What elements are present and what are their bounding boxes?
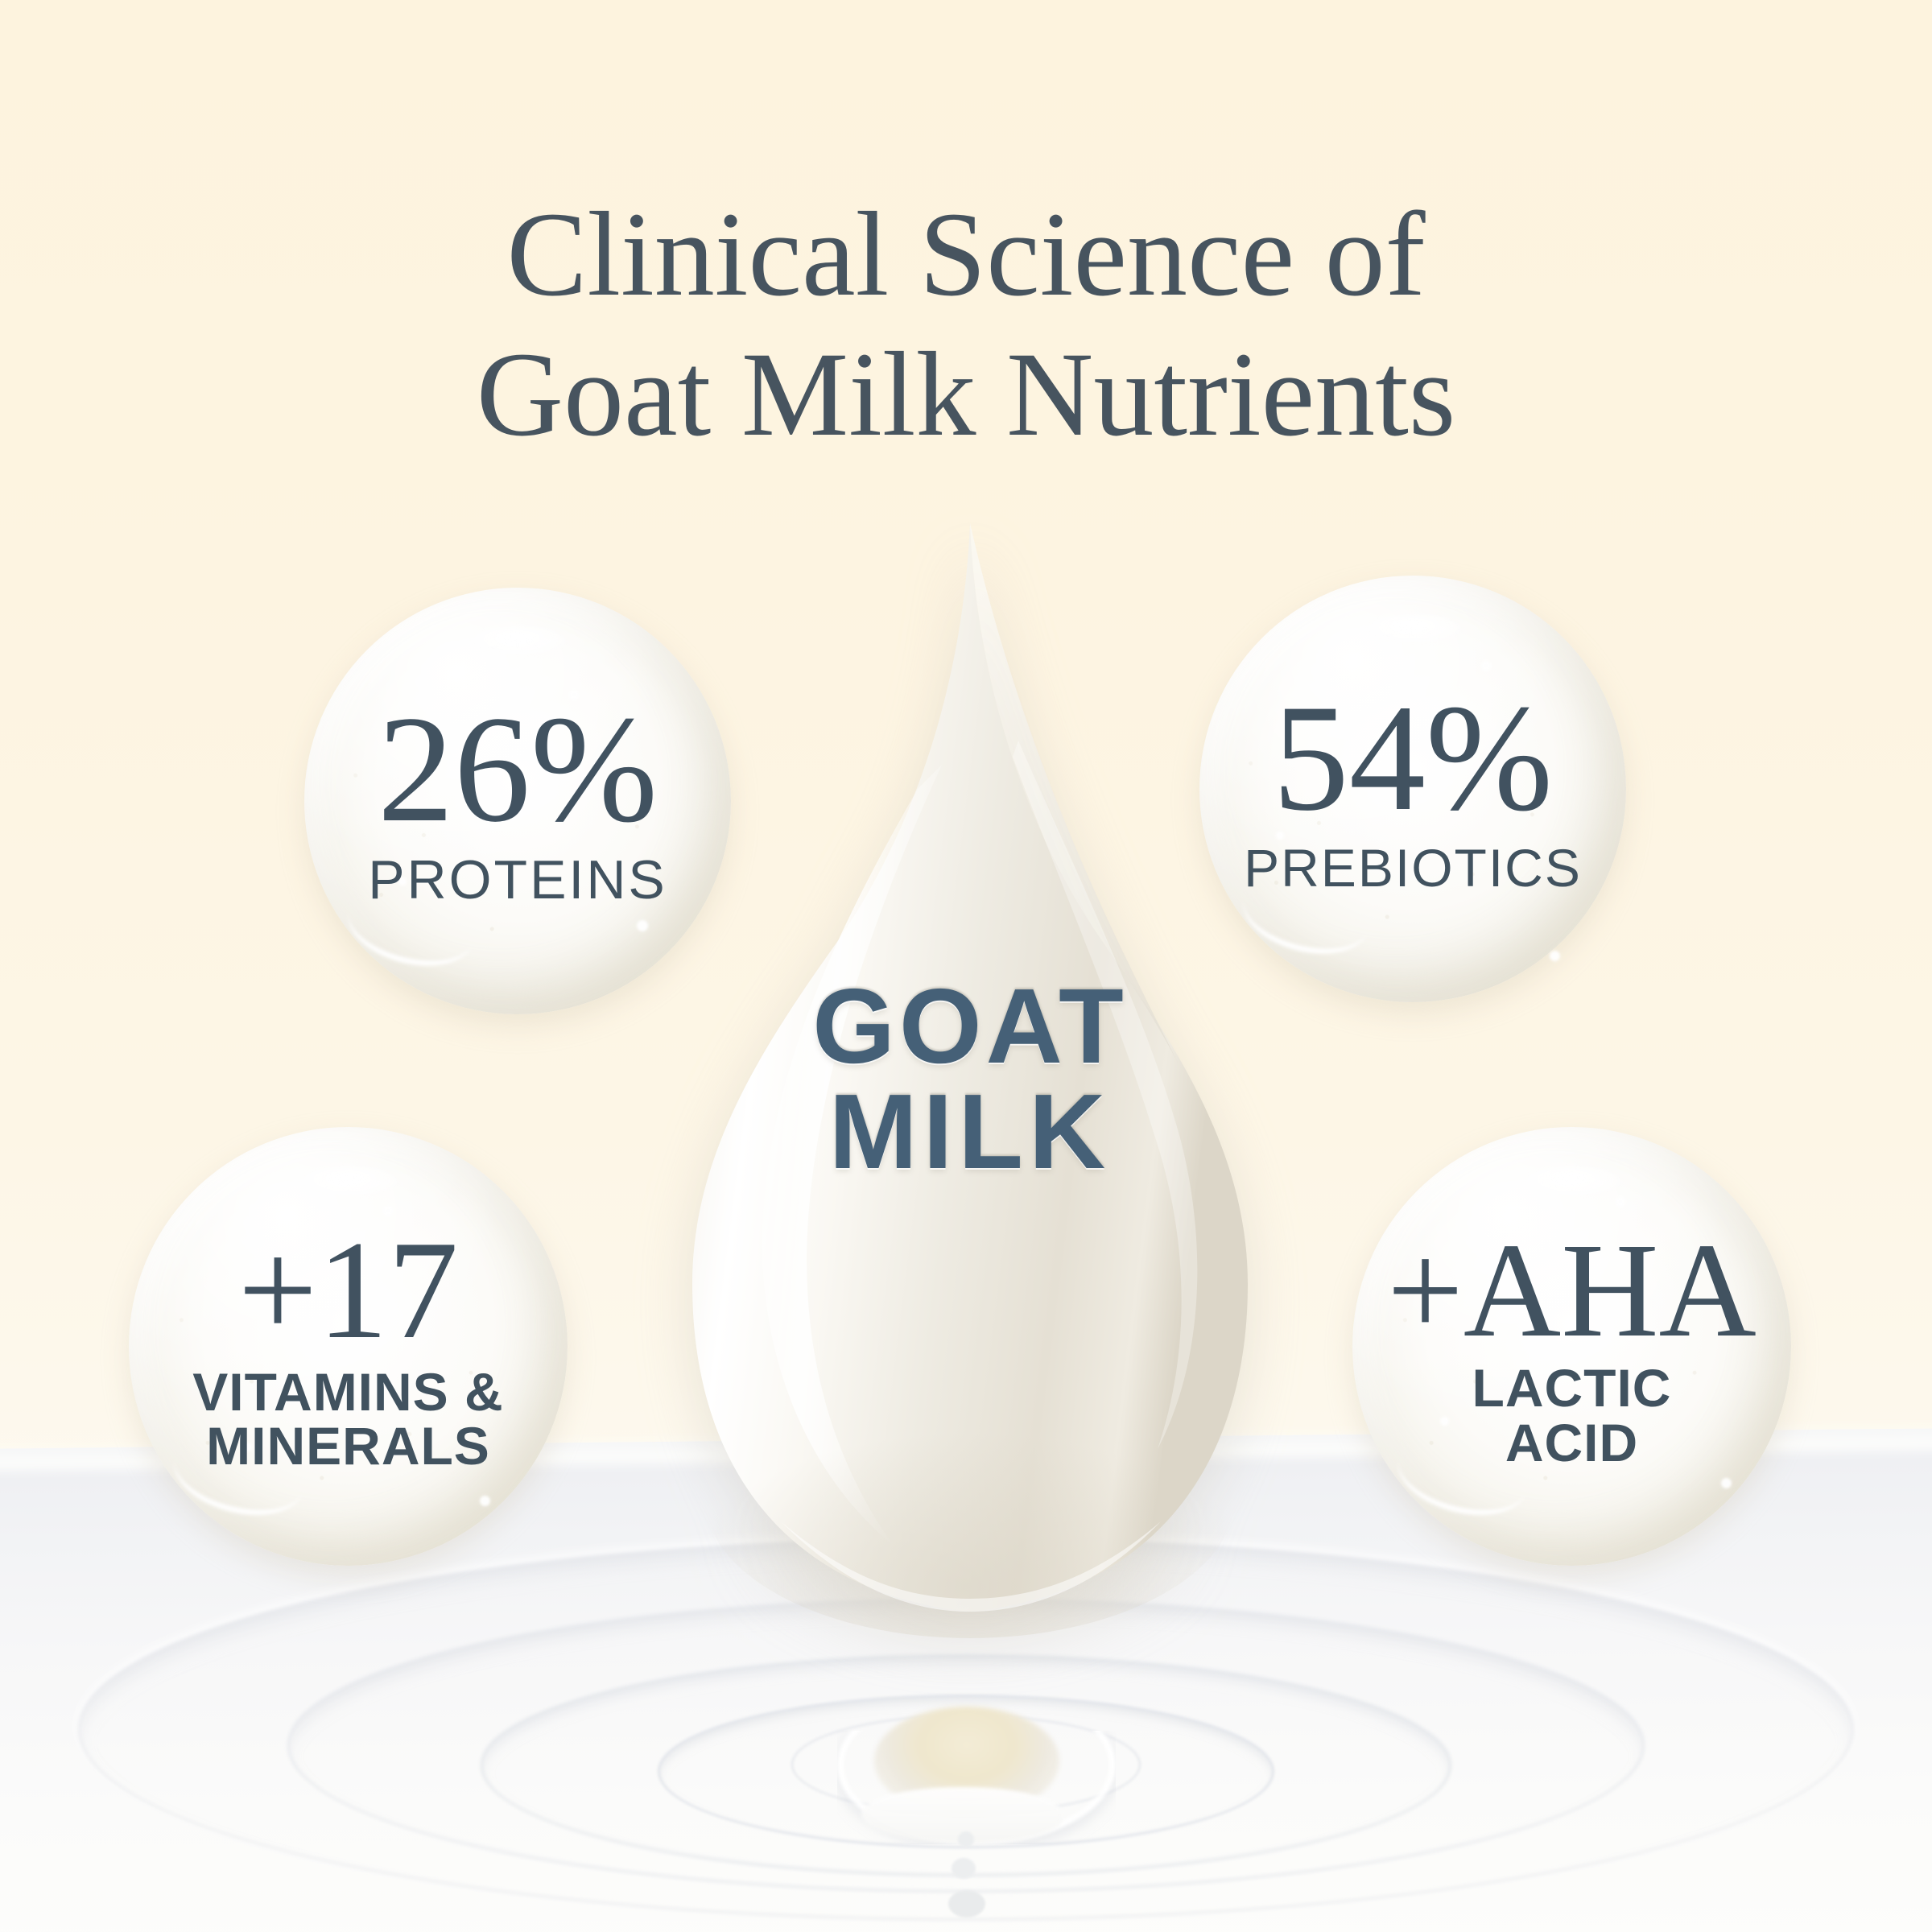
page-title: Clinical Science of Goat Milk Nutrients xyxy=(0,184,1932,464)
page-title-line-1: Clinical Science of xyxy=(506,188,1425,321)
nutrient-bubble-proteins: 26% PROTEINS xyxy=(304,588,731,1014)
bubble-speck-icon xyxy=(1550,951,1560,961)
nutrient-bubble-vitamins-minerals: +17 VITAMINS & MINERALS xyxy=(129,1127,568,1566)
goat-milk-nutrients-poster: Clinical Science of Goat Milk Nutrients xyxy=(0,0,1932,1932)
nutrient-label-prebiotics: PREBIOTICS xyxy=(1244,841,1582,895)
nutrient-label-proteins: PROTEINS xyxy=(368,852,667,908)
bubble-speck-icon xyxy=(1616,1197,1625,1207)
nutrient-stat-aha: +AHA xyxy=(1387,1223,1757,1358)
milk-micro-droplet xyxy=(952,1858,976,1879)
nutrient-label-aha-line-1: LACTIC xyxy=(1472,1361,1672,1415)
milk-micro-droplet xyxy=(948,1890,985,1918)
nutrient-stat-proteins: 26% xyxy=(378,693,658,846)
milk-micro-droplet xyxy=(958,1831,974,1847)
nutrient-bubble-aha: +AHA LACTIC ACID xyxy=(1352,1127,1791,1566)
bubble-highlight-icon xyxy=(469,626,567,656)
droplet-product-line-2: MILK xyxy=(652,1080,1288,1185)
bubble-highlight-icon xyxy=(298,1166,398,1197)
nutrient-label-aha: LACTIC ACID xyxy=(1472,1361,1672,1470)
droplet-product-label: GOAT MILK xyxy=(652,974,1288,1184)
nutrient-stat-vitamins: +17 xyxy=(238,1220,459,1360)
page-title-line-2: Goat Milk Nutrients xyxy=(0,324,1932,464)
nutrient-label-vitamins-line-2: MINERALS xyxy=(192,1419,503,1473)
milk-droplet: GOAT MILK xyxy=(652,523,1288,1699)
nutrient-label-vitamins-line-1: VITAMINS & xyxy=(192,1365,503,1419)
bubble-highlight-icon xyxy=(1364,614,1462,644)
bubble-speck-icon xyxy=(1481,661,1491,671)
bubble-speck-icon xyxy=(1721,1478,1732,1488)
bubble-speck-icon xyxy=(480,1496,490,1506)
bubble-speck-icon xyxy=(637,920,648,931)
bubble-highlight-icon xyxy=(1521,1166,1622,1197)
nutrient-label-vitamins: VITAMINS & MINERALS xyxy=(192,1365,503,1474)
nutrient-stat-prebiotics: 54% xyxy=(1273,682,1553,835)
nutrient-bubble-prebiotics: 54% PREBIOTICS xyxy=(1199,576,1626,1002)
bubble-speck-icon xyxy=(1440,1417,1449,1426)
droplet-product-line-1: GOAT xyxy=(652,974,1288,1080)
nutrient-label-aha-line-2: ACID xyxy=(1472,1416,1672,1470)
